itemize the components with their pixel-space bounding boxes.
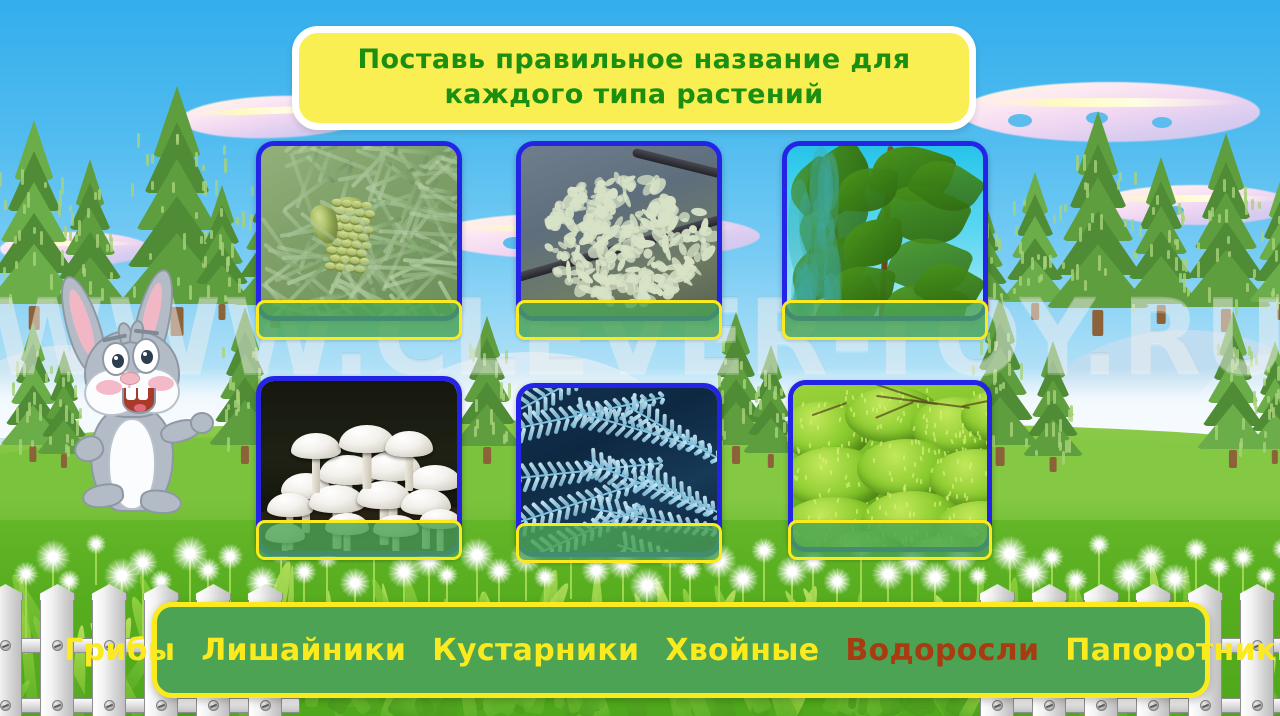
kelp-seaweed-photo (782, 141, 988, 321)
fern-pinna (708, 445, 713, 454)
fern-pinna (639, 398, 644, 413)
answer-slot-text (785, 303, 985, 337)
pine-cone-photo (256, 141, 462, 321)
answer-slot-text (519, 526, 719, 560)
fern-pinna (670, 419, 674, 431)
fern-pinna (556, 509, 562, 523)
title-line-1: Поставь правильное название для (357, 44, 910, 75)
fern-pinna (522, 477, 531, 493)
fern-pinna (711, 500, 716, 510)
fern-pinna (671, 477, 676, 491)
fern-pinna (551, 393, 555, 406)
fern-pinna (536, 424, 544, 439)
fern-pinna (519, 427, 527, 443)
answer-slot-text (259, 523, 459, 557)
fern-pinna (685, 429, 689, 440)
word-option-4[interactable]: Водоросли (845, 633, 1039, 668)
fern-pinna (536, 401, 540, 416)
fern-pinna (700, 440, 704, 449)
fern-pinna (573, 504, 579, 517)
game-stage: WWW.CLEVER-TOY.RU (0, 0, 1280, 716)
fern-pinna (638, 508, 643, 515)
card-algae[interactable] (782, 141, 988, 321)
fern-pinna (710, 457, 719, 464)
fern-pinna (719, 505, 722, 514)
answer-slot-moss[interactable] (788, 520, 992, 560)
card-conifer[interactable] (256, 141, 462, 321)
pine-needle (460, 263, 462, 281)
fern-pinna (599, 452, 604, 468)
fern-pinna (664, 472, 668, 486)
instruction-banner: Поставь правильное название для каждого … (292, 26, 976, 130)
answer-slot-mushroom[interactable] (256, 520, 462, 560)
word-option-5[interactable]: Папоротники (1065, 633, 1280, 668)
fern-pinna (582, 383, 587, 386)
fern-pinna (647, 403, 652, 418)
answer-slot-algae[interactable] (782, 300, 988, 340)
fern-pinna (611, 482, 621, 491)
fern-pinna (545, 422, 553, 437)
fern-pinna (528, 405, 533, 421)
fern-pinna (516, 478, 522, 494)
mushroom-cap (291, 433, 341, 459)
fern-pinna (655, 409, 659, 423)
lichen-branch (620, 230, 627, 235)
word-option-2[interactable]: Кустарники (432, 633, 639, 668)
fern-pinna (703, 495, 708, 506)
card-mushroom[interactable] (256, 376, 462, 556)
fern-pinna (581, 501, 587, 513)
word-option-1[interactable]: Лишайники (201, 633, 406, 668)
fern-pinna (630, 512, 635, 520)
fern-pinna (564, 507, 570, 520)
fern-pinna (554, 420, 562, 434)
fern-pinna (557, 383, 569, 385)
fern-pinna (713, 513, 722, 521)
answer-slot-text (791, 523, 989, 557)
lichen-branch (691, 207, 708, 217)
fern-pinna (543, 397, 547, 411)
answer-slot-text (519, 303, 719, 337)
fern-pinna (721, 517, 722, 524)
fern-pinna (663, 414, 667, 427)
fern-pinna (574, 383, 579, 391)
lichen-branch (554, 202, 560, 210)
fern-pinna (648, 462, 652, 478)
fern-pinna (701, 453, 710, 460)
fern-pinna (695, 491, 700, 502)
word-option-0[interactable]: Грибы (64, 633, 175, 668)
fern-pinna (567, 472, 576, 485)
fern-pinna (656, 467, 660, 482)
mushroom-cap (385, 431, 433, 457)
fern-pinna (679, 481, 684, 494)
fern-pinna (632, 393, 637, 409)
fern-pinna (693, 435, 697, 445)
lichen-photo (516, 141, 722, 321)
mushroom (385, 431, 433, 485)
fern-pinna (566, 384, 571, 396)
title-line-2: каждого типа растений (444, 79, 823, 110)
word-option-3[interactable]: Хвойные (665, 633, 819, 668)
fern-pinna (591, 448, 596, 464)
fern-pinna (559, 389, 563, 401)
fern-pinna (558, 473, 567, 487)
fern-pinna (527, 425, 535, 441)
fern-pinna (678, 424, 682, 435)
fern-pinna (549, 474, 558, 488)
fern-pinna (531, 476, 540, 491)
answer-slot-conifer[interactable] (256, 300, 462, 340)
mushroom (291, 433, 341, 487)
mushroom-cap (267, 493, 313, 517)
answer-slot-text (259, 303, 459, 337)
card-fern[interactable] (516, 383, 722, 557)
fern-pinna (540, 475, 549, 490)
fern-pinna (687, 486, 692, 498)
fern-pinna (607, 456, 612, 471)
card-lichen[interactable] (516, 141, 722, 321)
card-moss[interactable] (788, 380, 992, 552)
fern-pinna (693, 449, 703, 457)
answer-slot-lichen[interactable] (516, 300, 722, 340)
answer-slot-fern[interactable] (516, 523, 722, 563)
fern-pinna (659, 397, 665, 405)
page-title: Поставь правильное название для каждого … (339, 43, 928, 112)
word-bank: ГрибыЛишайникиКустарникиХвойныеВодоросли… (152, 602, 1210, 698)
fern-pinna (718, 462, 722, 468)
